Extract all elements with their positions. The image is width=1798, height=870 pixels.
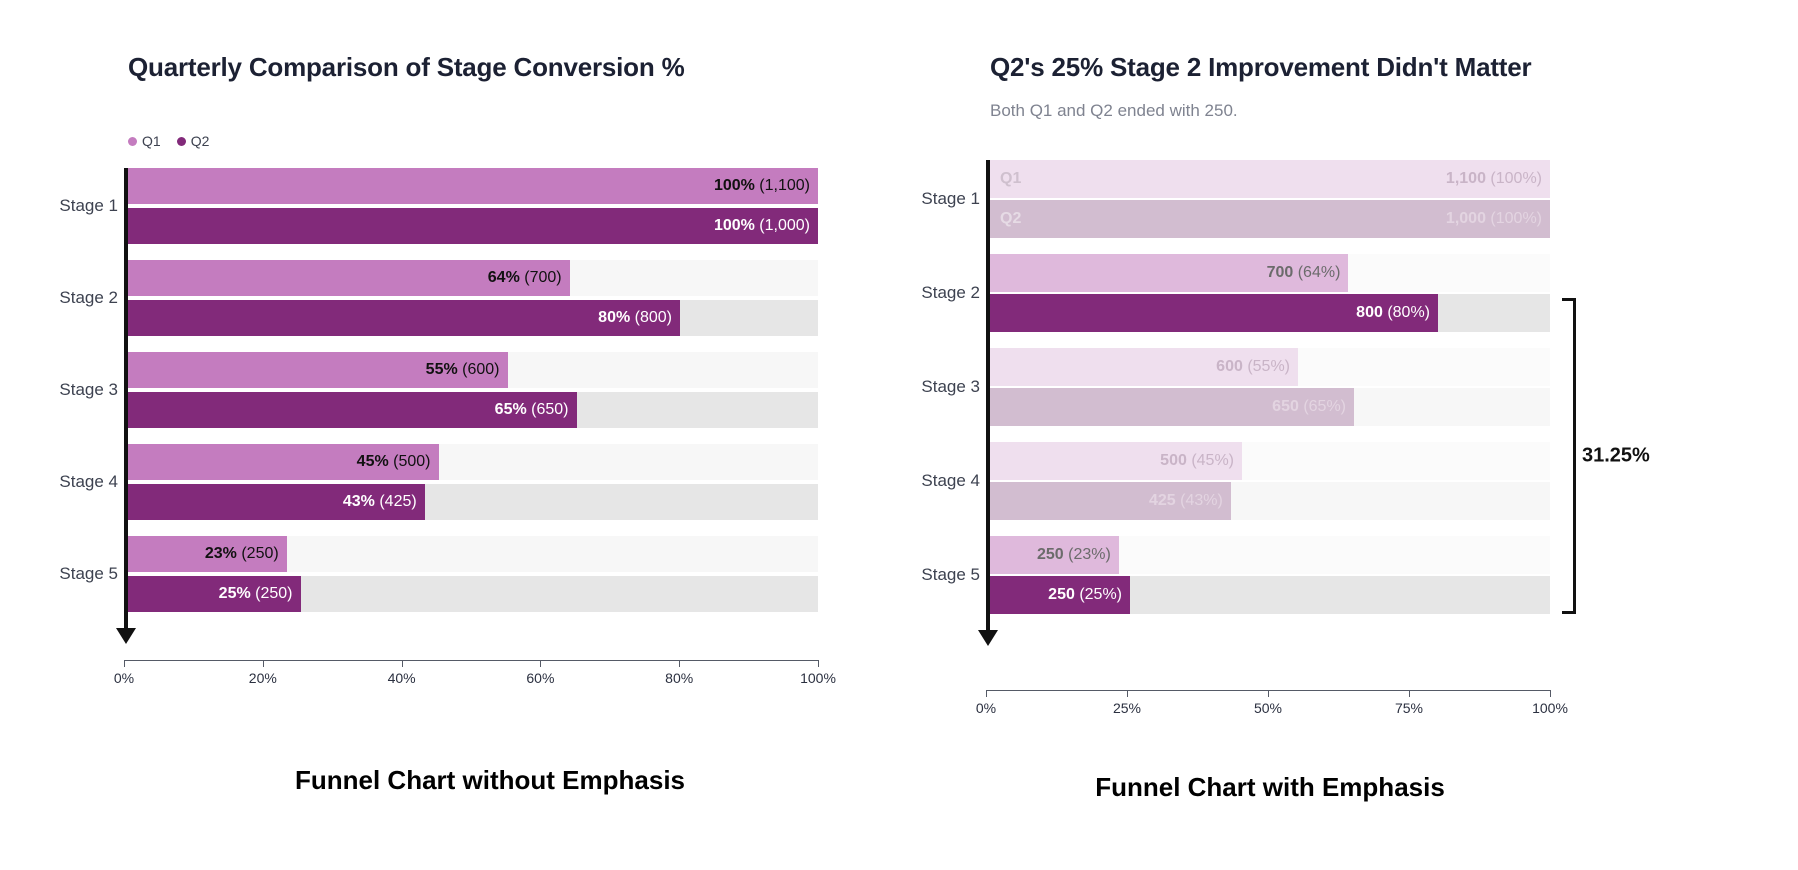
series-tag-label: Q1: [1000, 171, 1021, 187]
stage-axis-label: Stage 3: [59, 380, 118, 400]
bar-q1-stage-1[interactable]: Q11,100 (100%): [990, 160, 1550, 198]
left-plot-area: Stage 1100% (1,100)100% (1,000)Stage 264…: [128, 168, 818, 628]
right-chart-panel: Q2's 25% Stage 2 Improvement Didn't Matt…: [880, 0, 1798, 870]
bar-q1-stage-4[interactable]: 500 (45%): [990, 442, 1550, 480]
x-axis-tick: [818, 660, 819, 667]
left-chart-caption: Funnel Chart without Emphasis: [295, 765, 685, 796]
x-axis-tick-label: 100%: [800, 670, 836, 686]
right-plot-area: 31.25% Stage 1Q11,100 (100%)Q21,000 (100…: [990, 160, 1550, 630]
x-axis-tick-label: 0%: [114, 670, 134, 686]
bar-label-q2: 250 (25%): [1048, 587, 1122, 603]
bar-q2-stage-2[interactable]: 800 (80%): [990, 294, 1550, 332]
stage-group: Stage 264% (700)80% (800): [128, 260, 818, 336]
bar-q2-stage-5[interactable]: 25% (250): [128, 576, 818, 612]
x-axis-tick: [1550, 690, 1551, 697]
bar-label-q1: 1,100 (100%): [1446, 171, 1542, 187]
bar-label-q1: 500 (45%): [1160, 453, 1234, 469]
x-axis-tick-label: 80%: [665, 670, 693, 686]
bar-q1-stage-1[interactable]: 100% (1,100): [128, 168, 818, 204]
left-x-axis-line: [124, 660, 818, 661]
bar-q1-stage-5[interactable]: 250 (23%): [990, 536, 1550, 574]
stage-axis-label: Stage 2: [921, 283, 980, 303]
bar-label-q2: 1,000 (100%): [1446, 211, 1542, 227]
right-chart-title: Q2's 25% Stage 2 Improvement Didn't Matt…: [990, 52, 1531, 83]
bar-label-q1: 55% (600): [426, 362, 500, 378]
x-axis-tick: [1127, 690, 1128, 697]
x-axis-tick-label: 20%: [249, 670, 277, 686]
bar-label-q1: 64% (700): [488, 270, 562, 286]
bar-q1-stage-2[interactable]: 64% (700): [128, 260, 818, 296]
bar-label-q2: 425 (43%): [1149, 493, 1223, 509]
legend-dot-q2-icon: [177, 137, 186, 146]
legend-item-q1[interactable]: Q1: [128, 133, 161, 149]
stage-group: Stage 355% (600)65% (650): [128, 352, 818, 428]
bar-fill[interactable]: 100% (1,100): [128, 168, 818, 204]
bar-label-q2: 80% (800): [598, 310, 672, 326]
stage-group: Stage 1100% (1,100)100% (1,000): [128, 168, 818, 244]
left-chart-legend: Q1 Q2: [128, 133, 209, 149]
annotation-bracket: 31.25%: [1558, 298, 1576, 614]
stage-group: Stage 5250 (23%)250 (25%): [990, 536, 1550, 614]
x-axis-tick-label: 100%: [1532, 700, 1568, 716]
bar-q2-stage-3[interactable]: 650 (65%): [990, 388, 1550, 426]
bar-fill[interactable]: Q21,000 (100%): [990, 200, 1550, 238]
x-axis-tick-label: 0%: [976, 700, 996, 716]
stage-group: Stage 2700 (64%)800 (80%): [990, 254, 1550, 332]
stage-group: Stage 4500 (45%)425 (43%): [990, 442, 1550, 520]
bracket-top-tick: [1562, 298, 1576, 301]
series-tag-label: Q2: [1000, 211, 1021, 227]
bar-q2-stage-5[interactable]: 250 (25%): [990, 576, 1550, 614]
x-axis-tick-label: 40%: [388, 670, 416, 686]
bar-q1-stage-5[interactable]: 23% (250): [128, 536, 818, 572]
bracket-vertical-line: [1573, 298, 1576, 614]
stage-axis-label: Stage 2: [59, 288, 118, 308]
x-axis-tick: [402, 660, 403, 667]
bar-fill[interactable]: 80% (800): [128, 300, 680, 336]
left-chart-panel: Quarterly Comparison of Stage Conversion…: [0, 0, 880, 870]
bar-fill[interactable]: 55% (600): [128, 352, 508, 388]
bar-q1-stage-3[interactable]: 600 (55%): [990, 348, 1550, 386]
x-axis-tick: [124, 660, 125, 667]
left-chart-title: Quarterly Comparison of Stage Conversion…: [128, 52, 685, 83]
bar-fill[interactable]: 100% (1,000): [128, 208, 818, 244]
stage-group: Stage 523% (250)25% (250): [128, 536, 818, 612]
bar-q1-stage-3[interactable]: 55% (600): [128, 352, 818, 388]
bar-label-q2: 100% (1,000): [714, 218, 810, 234]
bar-fill[interactable]: Q11,100 (100%): [990, 160, 1550, 198]
bar-fill[interactable]: 700 (64%): [990, 254, 1348, 292]
legend-label-q2: Q2: [191, 133, 210, 149]
bar-label-q1: 45% (500): [357, 454, 431, 470]
bar-fill[interactable]: 600 (55%): [990, 348, 1298, 386]
bar-q2-stage-4[interactable]: 425 (43%): [990, 482, 1550, 520]
legend-label-q1: Q1: [142, 133, 161, 149]
stage-axis-label: Stage 4: [59, 472, 118, 492]
bar-q2-stage-2[interactable]: 80% (800): [128, 300, 818, 336]
right-chart-caption: Funnel Chart with Emphasis: [1095, 772, 1445, 803]
stage-axis-label: Stage 1: [921, 189, 980, 209]
stage-axis-label: Stage 5: [59, 564, 118, 584]
legend-item-q2[interactable]: Q2: [177, 133, 210, 149]
x-axis-tick-label: 60%: [526, 670, 554, 686]
bar-fill[interactable]: 43% (425): [128, 484, 425, 520]
bar-q2-stage-3[interactable]: 65% (650): [128, 392, 818, 428]
legend-dot-q1-icon: [128, 137, 137, 146]
x-axis-tick-label: 25%: [1113, 700, 1141, 716]
bar-q1-stage-4[interactable]: 45% (500): [128, 444, 818, 480]
stage-axis-label: Stage 4: [921, 471, 980, 491]
x-axis-tick-label: 50%: [1254, 700, 1282, 716]
x-axis-tick: [679, 660, 680, 667]
bar-label-q2: 650 (65%): [1272, 399, 1346, 415]
bar-fill[interactable]: 45% (500): [128, 444, 439, 480]
bar-label-q1: 100% (1,100): [714, 178, 810, 194]
bar-fill[interactable]: 64% (700): [128, 260, 570, 296]
stage-axis-label: Stage 1: [59, 196, 118, 216]
stage-axis-label: Stage 3: [921, 377, 980, 397]
bar-fill[interactable]: 250 (23%): [990, 536, 1119, 574]
x-axis-tick: [1409, 690, 1410, 697]
bar-label-q1: 23% (250): [205, 546, 279, 562]
bar-q2-stage-4[interactable]: 43% (425): [128, 484, 818, 520]
bar-fill[interactable]: 23% (250): [128, 536, 287, 572]
bar-fill[interactable]: 25% (250): [128, 576, 301, 612]
bar-label-q2: 25% (250): [219, 586, 293, 602]
stage-axis-label: Stage 5: [921, 565, 980, 585]
bar-label-q2: 800 (80%): [1356, 305, 1430, 321]
bar-fill[interactable]: 500 (45%): [990, 442, 1242, 480]
bar-label-q1: 700 (64%): [1267, 265, 1341, 281]
bar-label-q1: 600 (55%): [1216, 359, 1290, 375]
bar-fill[interactable]: 425 (43%): [990, 482, 1231, 520]
bar-label-q2: 43% (425): [343, 494, 417, 510]
bar-fill[interactable]: 250 (25%): [990, 576, 1130, 614]
chart-page: Quarterly Comparison of Stage Conversion…: [0, 0, 1798, 870]
annotation-label: 31.25%: [1582, 445, 1650, 468]
x-axis-tick: [1268, 690, 1269, 697]
x-axis-tick: [263, 660, 264, 667]
left-axis-arrow-icon: [116, 628, 136, 644]
bracket-bottom-tick: [1562, 611, 1576, 614]
x-axis-tick: [986, 690, 987, 697]
bar-label-q1: 250 (23%): [1037, 547, 1111, 563]
right-chart-subtitle: Both Q1 and Q2 ended with 250.: [990, 101, 1238, 121]
bar-q2-stage-1[interactable]: 100% (1,000): [128, 208, 818, 244]
stage-group: Stage 1Q11,100 (100%)Q21,000 (100%): [990, 160, 1550, 238]
stage-group: Stage 3600 (55%)650 (65%): [990, 348, 1550, 426]
bar-q2-stage-1[interactable]: Q21,000 (100%): [990, 200, 1550, 238]
bar-q1-stage-2[interactable]: 700 (64%): [990, 254, 1550, 292]
x-axis-tick-label: 75%: [1395, 700, 1423, 716]
stage-group: Stage 445% (500)43% (425): [128, 444, 818, 520]
bar-fill[interactable]: 650 (65%): [990, 388, 1354, 426]
bar-label-q2: 65% (650): [495, 402, 569, 418]
bar-fill[interactable]: 65% (650): [128, 392, 577, 428]
bar-fill[interactable]: 800 (80%): [990, 294, 1438, 332]
x-axis-tick: [540, 660, 541, 667]
right-axis-arrow-icon: [978, 630, 998, 646]
